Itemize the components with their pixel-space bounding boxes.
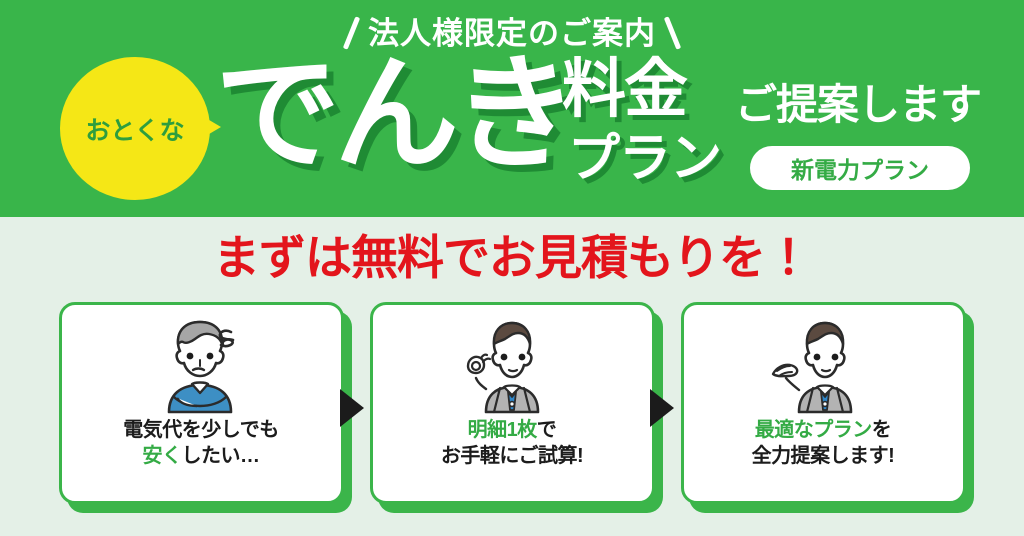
card-body: 最適なプランを 全力提案します! bbox=[681, 302, 966, 504]
card-caption: 電気代を少しでも 安くしたい… bbox=[123, 418, 278, 469]
step-card-3: 最適なプランを 全力提案します! bbox=[681, 302, 966, 504]
caption-line-1: 電気代を少しでも bbox=[123, 419, 278, 441]
headline-lower-word: プラン bbox=[568, 133, 732, 185]
businessman-ok-gesture-icon bbox=[456, 314, 568, 414]
headline-main-word: でんき bbox=[215, 52, 572, 177]
caption-line-2: したい… bbox=[182, 445, 260, 467]
caption-line-2: お手軽にご試算! bbox=[441, 445, 583, 467]
caption-line-2: 全力提案します! bbox=[752, 445, 895, 467]
card-body: 明細1枚で お手軽にご試算! bbox=[370, 302, 655, 504]
card-caption: 最適なプランを 全力提案します! bbox=[752, 418, 895, 469]
step-card-1: 電気代を少しでも 安くしたい… bbox=[59, 302, 344, 504]
step-arrow-1-icon bbox=[340, 389, 364, 427]
step-card-2: 明細1枚で お手軽にご試算! bbox=[370, 302, 655, 504]
value-speech-bubble: おとくな bbox=[60, 57, 210, 200]
caption-line-1: を bbox=[872, 419, 892, 441]
card-caption: 明細1枚で お手軽にご試算! bbox=[441, 418, 583, 469]
steps-card-row: 電気代を少しでも 安くしたい… bbox=[0, 302, 1024, 504]
headline-stacked-group: 料金 プラン bbox=[562, 57, 732, 185]
caption-highlight: 明細1枚 bbox=[468, 419, 537, 441]
kicker-text: 法人様限定のご案内 bbox=[368, 18, 656, 49]
step-arrow-2-icon bbox=[650, 389, 674, 427]
new-power-plan-badge-label: 新電力プラン bbox=[791, 151, 929, 185]
new-power-plan-badge: 新電力プラン bbox=[750, 146, 970, 190]
slash-decoration-icon bbox=[664, 16, 681, 49]
worried-man-crossed-arms-icon bbox=[145, 314, 257, 414]
caption-highlight: 安く bbox=[143, 445, 182, 467]
hero-section: 法人様限定のご案内 おとくな でんき 料金 プラン ご提案します 新電力プラン bbox=[0, 0, 1024, 217]
caption-line-1: で bbox=[537, 419, 557, 441]
businessman-presenting-icon bbox=[767, 314, 879, 414]
headline-upper-word: 料金 bbox=[562, 57, 732, 121]
promo-banner: 法人様限定のご案内 おとくな でんき 料金 プラン ご提案します 新電力プラン … bbox=[0, 0, 1024, 536]
caption-highlight: 最適なプラン bbox=[755, 419, 872, 441]
value-speech-bubble-label: おとくな bbox=[85, 111, 184, 147]
card-body: 電気代を少しでも 安くしたい… bbox=[59, 302, 344, 504]
propose-text: ご提案します bbox=[735, 84, 981, 126]
sub-headline: まずは無料でお見積もりを！ bbox=[0, 232, 1024, 284]
